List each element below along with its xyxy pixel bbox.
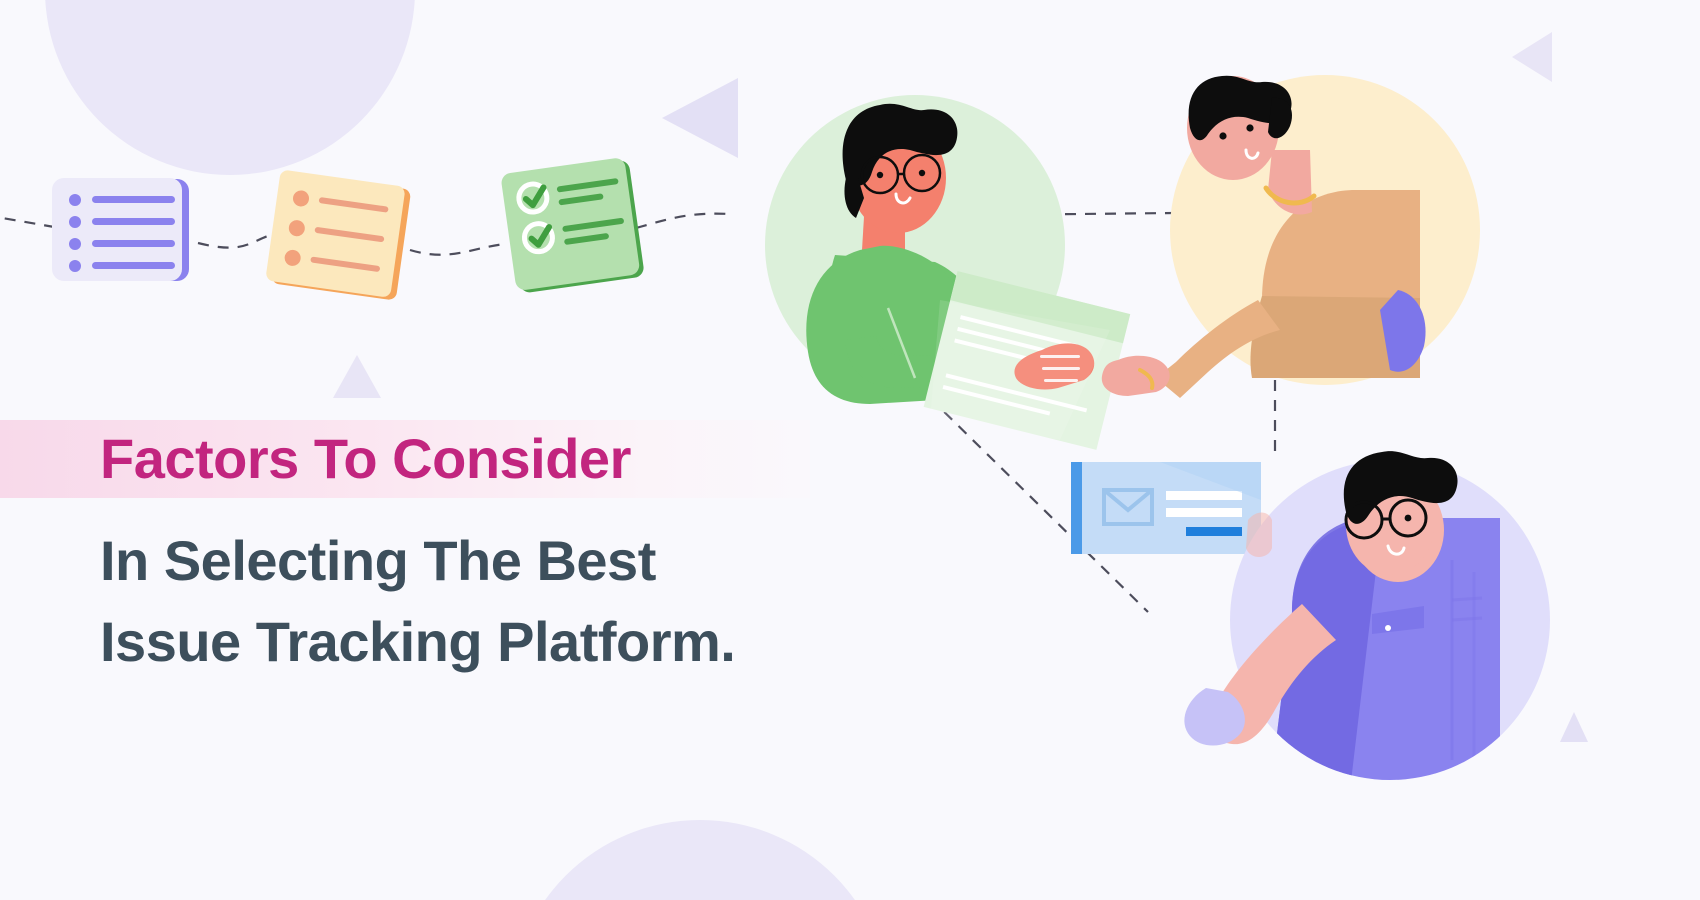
illustration-banner: Factors To Consider In Selecting The Bes…	[0, 0, 1700, 900]
headline-block: Factors To Consider In Selecting The Bes…	[0, 420, 900, 682]
headline-body: In Selecting The Best Issue Tracking Pla…	[0, 498, 900, 682]
green-checklist-card	[500, 156, 645, 294]
list-bullet-icon	[69, 216, 81, 228]
headline-highlight-band: Factors To Consider	[0, 420, 810, 498]
eye	[919, 170, 925, 176]
email-card-stripe	[1071, 462, 1082, 554]
hand	[1102, 356, 1170, 396]
list-bullet-icon	[69, 238, 81, 250]
email-accent-bar	[1186, 527, 1242, 536]
purple-list-card	[52, 178, 189, 281]
list-bullet-icon	[69, 260, 81, 272]
pointing-hand	[1246, 513, 1272, 558]
eye	[1246, 124, 1253, 131]
headline-highlight-text: Factors To Consider	[0, 431, 631, 487]
pocket-button	[1385, 625, 1391, 631]
eye	[877, 172, 883, 178]
headline-line-2: Issue Tracking Platform.	[100, 601, 900, 682]
orange-list-card	[265, 169, 412, 300]
eye	[1405, 515, 1412, 522]
eye	[1219, 132, 1226, 139]
list-bullet-icon	[69, 194, 81, 206]
email-card	[1071, 462, 1261, 554]
headline-line-1: In Selecting The Best	[100, 520, 900, 601]
